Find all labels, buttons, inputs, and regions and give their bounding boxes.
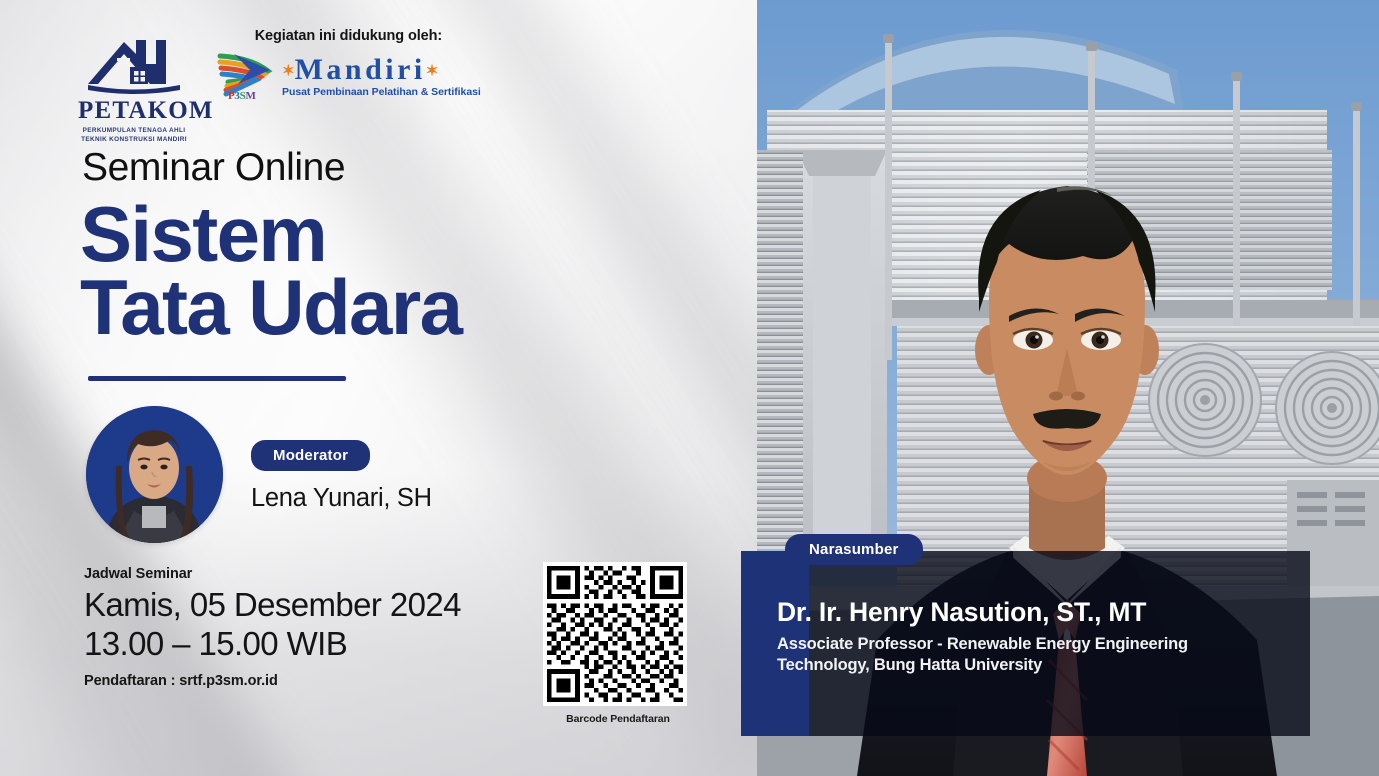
schedule-date: Kamis, 05 Desember 2024	[84, 586, 461, 625]
seminar-poster: PETAKOM PERKUMPULAN TENAGA AHLI TEKNIK K…	[0, 0, 1379, 776]
petakom-subtitle-line2: TEKNIK KONSTRUKSI MANDIRI	[78, 135, 190, 144]
title-line-2: Tata Udara	[80, 271, 461, 344]
speaker-title-line1: Associate Professor - Renewable Energy E…	[777, 635, 1188, 653]
mandiri-wordmark: ✶Mandiri✶	[282, 55, 481, 85]
seminar-kicker: Seminar Online	[82, 148, 345, 187]
speaker-badge: Narasumber	[785, 534, 923, 565]
petakom-logo: PETAKOM PERKUMPULAN TENAGA AHLI TEKNIK K…	[78, 24, 190, 145]
star-icon: ✶	[426, 64, 439, 80]
mandiri-tagline: Pusat Pembinaan Pelatihan & Sertifikasi	[282, 86, 481, 98]
petakom-subtitle-line1: PERKUMPULAN TENAGA AHLI	[78, 126, 190, 135]
speaker-title-line2: Technology, Bung Hatta University	[777, 656, 1042, 674]
schedule-time: 13.00 – 15.00 WIB	[84, 625, 461, 664]
schedule-label: Jadwal Seminar	[84, 566, 461, 582]
moderator-avatar	[86, 406, 223, 543]
p3sm-swoosh-icon: P3SM	[216, 50, 278, 100]
title-underline	[88, 376, 346, 381]
qr-block: Barcode Pendaftaran	[543, 562, 693, 725]
mandiri-word-text: Mandiri	[295, 53, 426, 86]
speaker-title: Associate Professor - Renewable Energy E…	[777, 634, 1307, 676]
title-line-1: Sistem	[80, 198, 461, 271]
house-roof-icon	[84, 34, 184, 96]
moderator-block: Moderator Lena Yunari, SH	[86, 406, 432, 543]
p3sm-abbrev: P3SM	[228, 90, 256, 102]
moderator-name: Lena Yunari, SH	[251, 484, 432, 513]
registration-url[interactable]: Pendaftaran : srtf.p3sm.or.id	[84, 673, 461, 689]
header-logos: PETAKOM PERKUMPULAN TENAGA AHLI TEKNIK K…	[78, 24, 481, 145]
mandiri-logo-block: Kegiatan ini didukung oleh: P3SM ✶Mandir…	[216, 24, 481, 100]
qr-caption: Barcode Pendaftaran	[543, 713, 693, 725]
avatar	[86, 406, 223, 543]
support-text: Kegiatan ini didukung oleh:	[216, 28, 481, 44]
moderator-badge: Moderator	[251, 440, 370, 471]
schedule-block: Jadwal Seminar Kamis, 05 Desember 2024 1…	[84, 566, 461, 689]
page-title: Sistem Tata Udara	[80, 198, 461, 343]
star-icon: ✶	[282, 64, 295, 80]
speaker-name: Dr. Ir. Henry Nasution, ST., MT	[777, 598, 1307, 627]
qr-code-icon[interactable]	[543, 562, 687, 706]
petakom-name: PETAKOM	[78, 98, 190, 123]
speaker-info: Dr. Ir. Henry Nasution, ST., MT Associat…	[777, 598, 1307, 676]
